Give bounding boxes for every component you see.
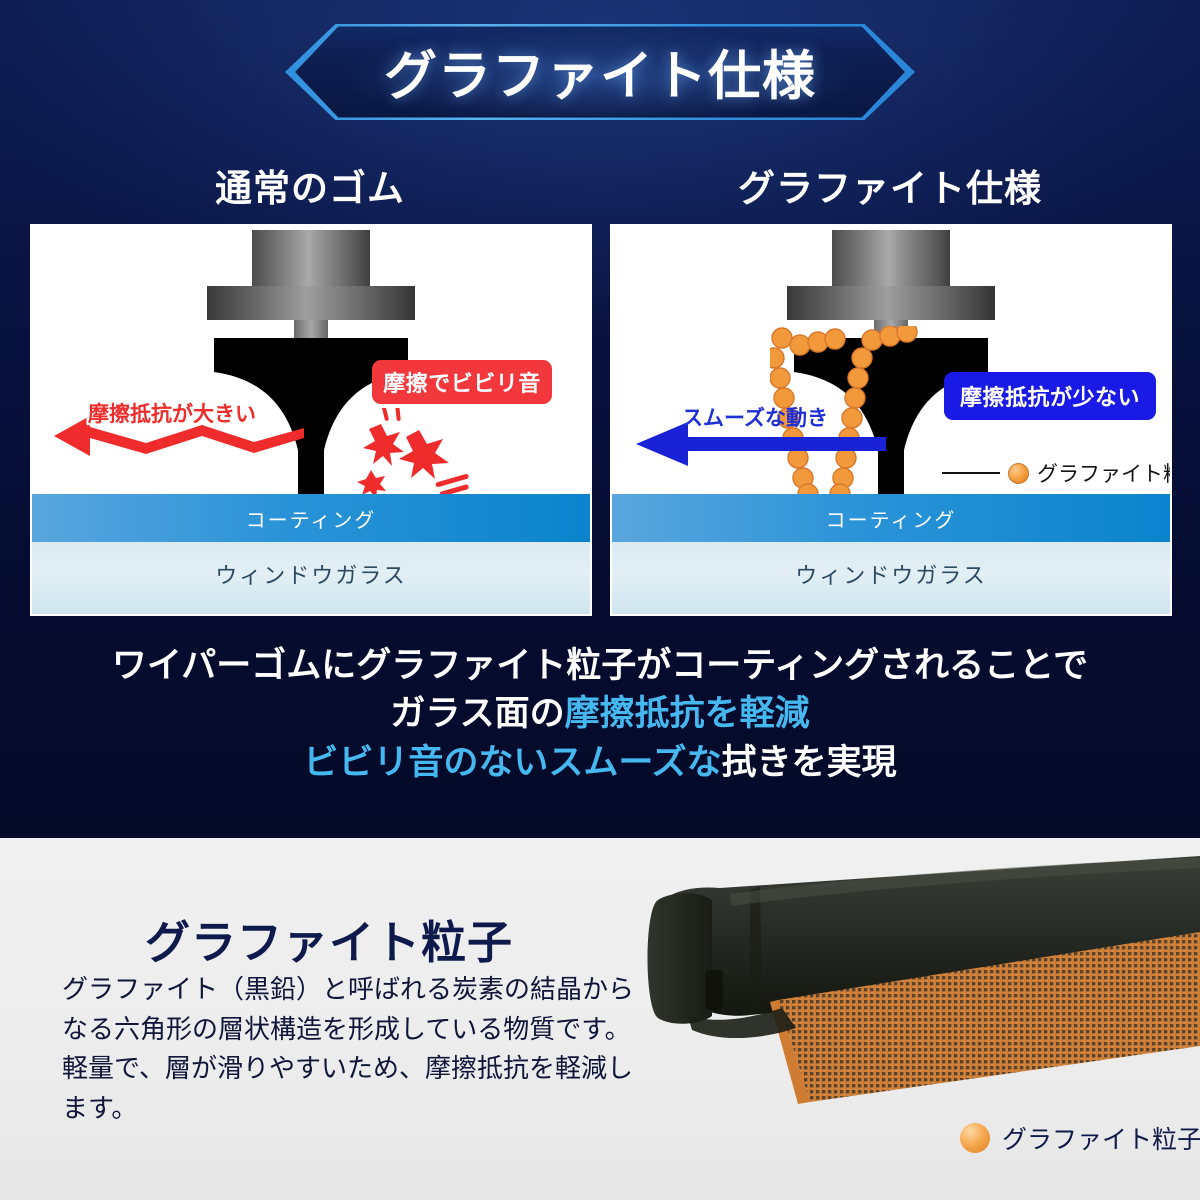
graphite-particle-dot-icon <box>1008 463 1029 484</box>
spark-marks-icon <box>357 408 477 494</box>
blade-holder-mid-icon <box>787 286 995 320</box>
summary-line-3-highlight-1: ビビリ音のない <box>303 743 548 782</box>
bottom-body-text: グラファイト（黒鉛）と呼ばれる炭素の結晶からなる六角形の層状構造を形成している物… <box>62 970 637 1128</box>
summary-line-2-plain: ガラス面の <box>390 694 564 733</box>
infographic-root: グラファイト仕様 通常のゴム グラファイト仕様 摩擦抵抗が大きい <box>0 0 1200 1200</box>
panel-heading-normal-rubber: 通常のゴム <box>30 158 590 212</box>
glass-layer-left: ウィンドウガラス <box>32 542 590 614</box>
wiper-blade-photo <box>600 850 1200 1140</box>
blade-holder-top-icon <box>832 230 950 286</box>
graphite-particle-legend-dot-icon <box>960 1123 990 1153</box>
title-banner: グラファイト仕様 <box>285 24 915 120</box>
glass-label-left: ウィンドウガラス <box>215 558 407 590</box>
blade-holder-mid-icon <box>207 286 415 320</box>
page-title: グラファイト仕様 <box>285 24 915 120</box>
summary-line-3-plain: 拭きを実現 <box>722 743 897 782</box>
photo-legend-label: グラファイト粒子 <box>1002 1120 1200 1156</box>
callout-label: グラファイト粒子 <box>1037 458 1172 488</box>
badge-low-friction: 摩擦抵抗が少ない <box>944 372 1156 420</box>
coating-layer-left: コーティング <box>32 494 590 542</box>
summary-text: ワイパーゴムにグラファイト粒子がコーティングされることで ガラス面の摩擦抵抗を軽… <box>0 642 1200 787</box>
glass-layer-right: ウィンドウガラス <box>612 542 1170 614</box>
summary-line-3: ビビリ音のないスムーズな拭きを実現 <box>0 739 1200 787</box>
smooth-motion-label: スムーズな動き <box>682 402 828 432</box>
diagram-card-graphite: スムーズな動き 摩擦抵抗が少ない グラファイト粒子 コーティング ウィンドウガラ… <box>610 224 1172 616</box>
summary-line-2: ガラス面の摩擦抵抗を軽減 <box>0 690 1200 738</box>
summary-line-1: ワイパーゴムにグラファイト粒子がコーティングされることで <box>0 642 1200 690</box>
coating-label-right: コーティング <box>826 504 957 533</box>
coating-label-left: コーティング <box>246 504 377 533</box>
bottom-heading: グラファイト粒子 <box>145 906 513 971</box>
bottom-section: グラファイト粒子 グラファイト（黒鉛）と呼ばれる炭素の結晶からなる六角形の層状構… <box>0 838 1200 1200</box>
photo-legend: グラファイト粒子 <box>960 1120 1200 1156</box>
graphite-particle-callout: グラファイト粒子 <box>942 458 1172 488</box>
glass-label-right: ウィンドウガラス <box>795 558 987 590</box>
panel-heading-graphite: グラファイト仕様 <box>610 158 1170 212</box>
coating-layer-right: コーティング <box>612 494 1170 542</box>
summary-line-2-highlight: 摩擦抵抗を軽減 <box>565 694 810 733</box>
friction-arrow-label: 摩擦抵抗が大きい <box>88 398 256 428</box>
blade-holder-top-icon <box>252 230 370 286</box>
top-section: グラファイト仕様 通常のゴム グラファイト仕様 摩擦抵抗が大きい <box>0 0 1200 838</box>
summary-line-3-highlight-2: スムーズな <box>548 743 721 782</box>
badge-friction-noise: 摩擦でビビリ音 <box>372 360 552 404</box>
callout-leader-line <box>942 472 1000 474</box>
diagram-card-normal-rubber: 摩擦抵抗が大きい 摩擦でビビリ音 コーティング ウィンドウガラス <box>30 224 592 616</box>
